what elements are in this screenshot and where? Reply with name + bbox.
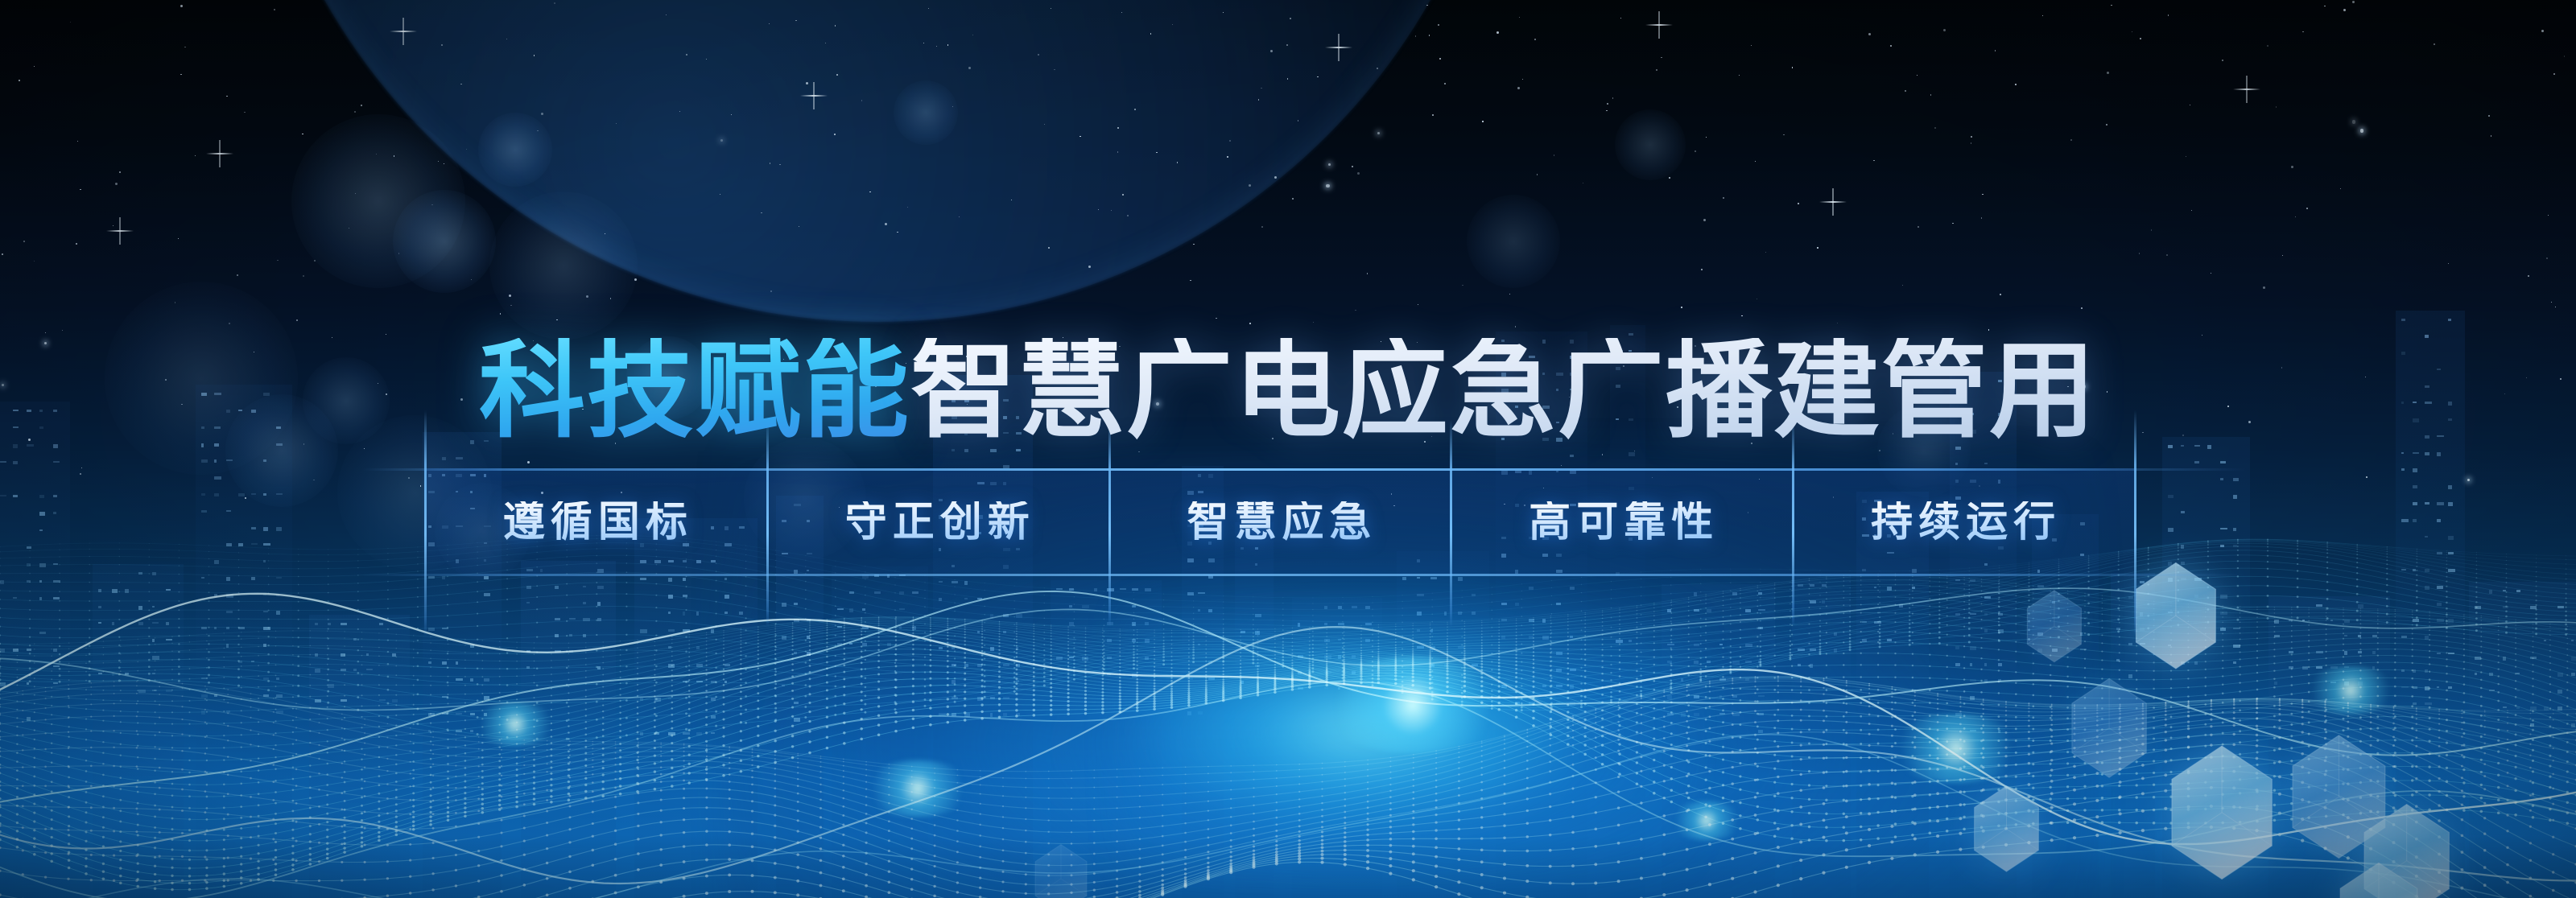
keyword-item-4: 高可靠性 xyxy=(1450,501,1792,543)
page-title-accent: 科技赋能 xyxy=(479,338,910,444)
keyword-item-3: 智慧应急 xyxy=(1108,501,1451,543)
keyword-list: 遵循国标 守正创新 智慧应急 高可靠性 持续运行 xyxy=(424,468,2134,576)
keyword-item-5: 持续运行 xyxy=(1792,501,2134,543)
banner-root: 科技赋能智慧广电应急广播建管用 遵循国标 守正创新 智慧应急 高可靠性 持续运行 xyxy=(0,0,2576,898)
page-title-plain: 智慧广电应急广播建管用 xyxy=(910,338,2097,444)
page-title: 科技赋能智慧广电应急广播建管用 xyxy=(0,338,2576,444)
keyword-item-1: 遵循国标 xyxy=(424,501,766,543)
keyword-item-2: 守正创新 xyxy=(766,501,1108,543)
